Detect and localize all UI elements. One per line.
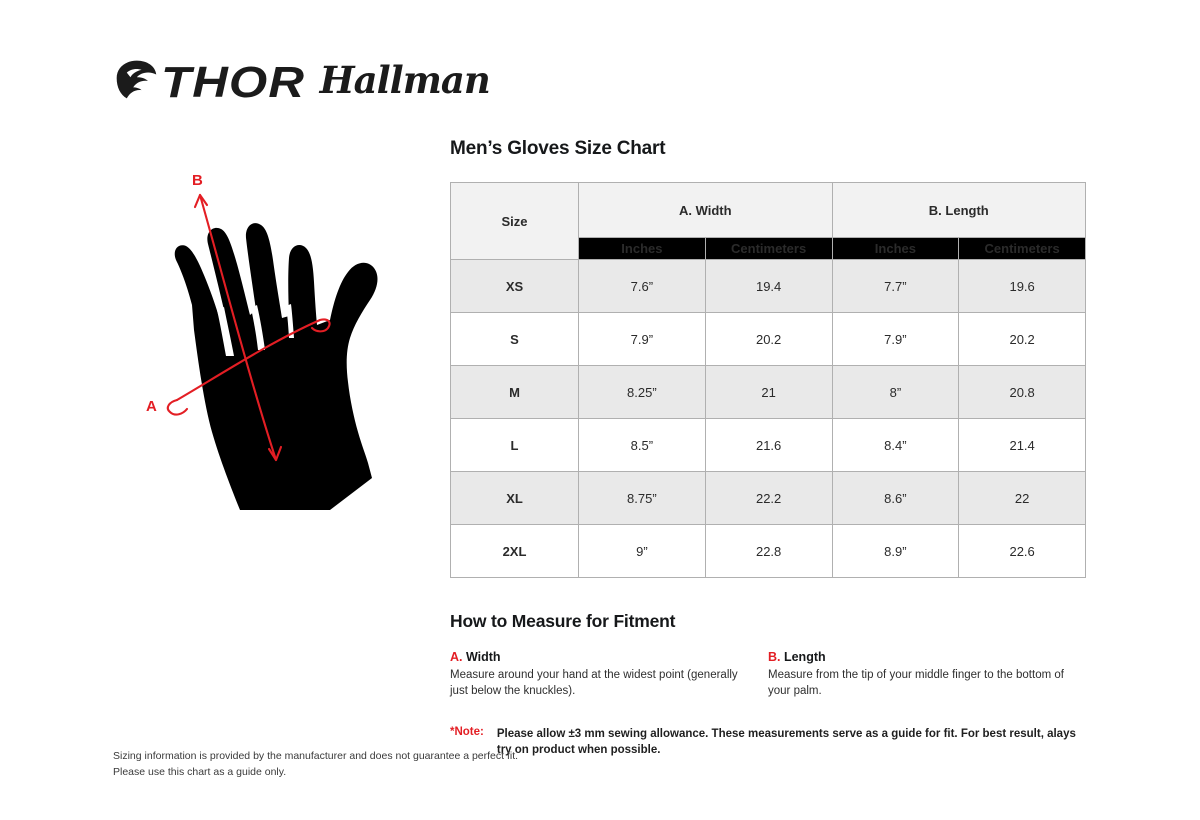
width-arrow-curl-left (168, 400, 187, 415)
width-label-a: A (146, 398, 157, 415)
column-header-width-inches: Inches (579, 238, 706, 260)
cell-width-centimeters: 22.2 (705, 472, 832, 525)
footer-disclaimer: Sizing information is provided by the ma… (113, 748, 518, 781)
size-chart-table: Size A. Width B. Length Inches Centimete… (450, 182, 1086, 578)
column-header-length-centimeters: Centimeters (959, 238, 1086, 260)
thor-helmet-icon (113, 57, 159, 108)
cell-width-centimeters: 20.2 (705, 313, 832, 366)
length-label-b: B (192, 172, 203, 189)
cell-length-inches: 7.9” (832, 313, 959, 366)
cell-length-centimeters: 22.6 (959, 525, 1086, 578)
table-row: 2XL 9” 22.8 8.9” 22.6 (451, 525, 1086, 578)
table-body: XS 7.6” 19.4 7.7” 19.6 S 7.9” 20.2 7.9” … (451, 260, 1086, 578)
cell-size: 2XL (451, 525, 579, 578)
cell-length-inches: 8” (832, 366, 959, 419)
measure-width-letter: A. (450, 650, 463, 664)
table-head: Size A. Width B. Length Inches Centimete… (451, 183, 1086, 260)
cell-size: M (451, 366, 579, 419)
cell-width-inches: 8.75” (579, 472, 706, 525)
brand-logo-bar: THOR Hallman (113, 55, 490, 110)
hand-measurement-diagram: B A (120, 160, 420, 540)
note-row: *Note: Please allow ±3 mm sewing allowan… (450, 726, 1086, 759)
cell-width-centimeters: 19.4 (705, 260, 832, 313)
cell-length-inches: 7.7” (832, 260, 959, 313)
cell-width-centimeters: 21 (705, 366, 832, 419)
measure-length-text: Measure from the tip of your middle fing… (768, 667, 1068, 700)
column-group-length: B. Length (832, 183, 1086, 238)
thor-wordmark: THOR (161, 61, 305, 105)
cell-length-centimeters: 20.2 (959, 313, 1086, 366)
table-row: L 8.5” 21.6 8.4” 21.4 (451, 419, 1086, 472)
measure-length-name: Length (781, 650, 826, 664)
footer-line-2: Please use this chart as a guide only. (113, 764, 518, 780)
cell-width-inches: 9” (579, 525, 706, 578)
measure-width-heading: A. Width (450, 650, 760, 664)
cell-width-inches: 8.5” (579, 419, 706, 472)
cell-size: L (451, 419, 579, 472)
how-to-measure-title: How to Measure for Fitment (450, 611, 1086, 632)
page-title: Men’s Gloves Size Chart (450, 138, 1086, 160)
how-to-measure-section: How to Measure for Fitment A. Width Meas… (450, 611, 1086, 700)
measure-length-block: B. Length Measure from the tip of your m… (768, 650, 1086, 700)
cell-size: S (451, 313, 579, 366)
hallman-wordmark: Hallman (320, 62, 490, 99)
column-header-width-centimeters: Centimeters (705, 238, 832, 260)
footer-line-1: Sizing information is provided by the ma… (113, 748, 518, 764)
how-to-measure-columns: A. Width Measure around your hand at the… (450, 650, 1086, 700)
cell-length-centimeters: 19.6 (959, 260, 1086, 313)
column-header-length-inches: Inches (832, 238, 959, 260)
cell-length-inches: 8.4” (832, 419, 959, 472)
cell-width-inches: 7.9” (579, 313, 706, 366)
column-group-width: A. Width (579, 183, 833, 238)
thor-logo: THOR (113, 57, 290, 108)
measure-length-heading: B. Length (768, 650, 1078, 664)
cell-length-centimeters: 20.8 (959, 366, 1086, 419)
measure-width-text: Measure around your hand at the widest p… (450, 667, 750, 700)
cell-length-centimeters: 22 (959, 472, 1086, 525)
cell-width-inches: 7.6” (579, 260, 706, 313)
cell-width-inches: 8.25” (579, 366, 706, 419)
table-head-row-groups: Size A. Width B. Length (451, 183, 1086, 238)
table-row: M 8.25” 21 8” 20.8 (451, 366, 1086, 419)
size-chart-content: Men’s Gloves Size Chart Size A. Width B.… (450, 138, 1086, 759)
measure-width-name: Width (463, 650, 501, 664)
column-header-size: Size (451, 183, 579, 260)
hand-silhouette-icon (175, 223, 378, 510)
cell-length-inches: 8.9” (832, 525, 959, 578)
table-row: XL 8.75” 22.2 8.6” 22 (451, 472, 1086, 525)
table-row: S 7.9” 20.2 7.9” 20.2 (451, 313, 1086, 366)
cell-size: XL (451, 472, 579, 525)
cell-width-centimeters: 22.8 (705, 525, 832, 578)
cell-length-centimeters: 21.4 (959, 419, 1086, 472)
note-text: Please allow ±3 mm sewing allowance. The… (497, 726, 1086, 759)
table-row: XS 7.6” 19.4 7.7” 19.6 (451, 260, 1086, 313)
measure-width-block: A. Width Measure around your hand at the… (450, 650, 768, 700)
cell-width-centimeters: 21.6 (705, 419, 832, 472)
measure-length-letter: B. (768, 650, 781, 664)
cell-size: XS (451, 260, 579, 313)
cell-length-inches: 8.6” (832, 472, 959, 525)
